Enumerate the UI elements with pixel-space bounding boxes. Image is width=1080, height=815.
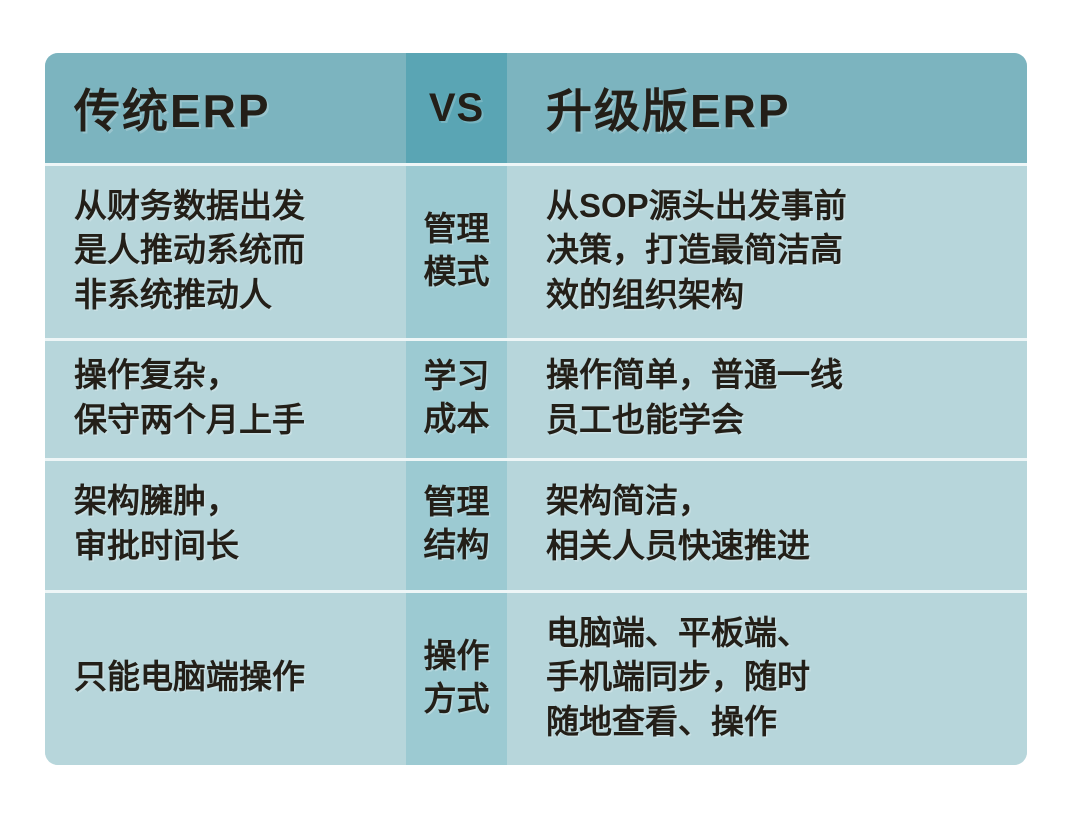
row-cell-legacy: 架构臃肿， 审批时间长 (45, 458, 406, 590)
row-text-upgraded: 操作简单，普通一线 员工也能学会 (546, 353, 843, 442)
row-text-category: 学习 成本 (424, 355, 490, 441)
row-text-legacy: 架构臃肿， 审批时间长 (74, 479, 239, 568)
table-row: 只能电脑端操作 操作 方式 电脑端、平板端、 手机端同步，随时 随地查看、操作 (45, 590, 1027, 765)
header-title-upgraded: 升级版ERP (507, 75, 791, 141)
table-row: 操作复杂， 保守两个月上手 学习 成本 操作简单，普通一线 员工也能学会 (45, 338, 1027, 458)
table-row: 架构臃肿， 审批时间长 管理 结构 架构简洁， 相关人员快速推进 (45, 458, 1027, 590)
row-text-upgraded: 从SOP源头出发事前 决策，打造最简洁高 效的组织架构 (546, 184, 847, 318)
row-cell-category: 操作 方式 (406, 590, 507, 765)
table-row: 从财务数据出发 是人推动系统而 非系统推动人 管理 模式 从SOP源头出发事前 … (45, 163, 1027, 338)
row-text-category: 管理 结构 (424, 481, 490, 567)
row-cell-category: 管理 模式 (406, 163, 507, 338)
header-vs-label: VS (429, 86, 484, 131)
row-text-category: 操作 方式 (424, 635, 490, 721)
comparison-table: 传统ERP VS 升级版ERP 从财务数据出发 是人推动系统而 非系统推动人 管… (45, 53, 1027, 765)
header-title-legacy: 传统ERP (45, 75, 271, 141)
header-cell-vs: VS (406, 53, 507, 163)
row-cell-legacy: 从财务数据出发 是人推动系统而 非系统推动人 (45, 163, 406, 338)
row-cell-legacy: 只能电脑端操作 (45, 590, 406, 765)
row-text-legacy: 只能电脑端操作 (74, 655, 305, 700)
row-text-legacy: 操作复杂， 保守两个月上手 (74, 353, 305, 442)
row-cell-upgraded: 电脑端、平板端、 手机端同步，随时 随地查看、操作 (507, 590, 1027, 765)
row-cell-category: 管理 结构 (406, 458, 507, 590)
row-cell-upgraded: 操作简单，普通一线 员工也能学会 (507, 338, 1027, 458)
row-cell-category: 学习 成本 (406, 338, 507, 458)
row-text-upgraded: 架构简洁， 相关人员快速推进 (546, 479, 810, 568)
row-text-upgraded: 电脑端、平板端、 手机端同步，随时 随地查看、操作 (546, 611, 810, 745)
row-text-category: 管理 模式 (424, 208, 490, 294)
table-header-row: 传统ERP VS 升级版ERP (45, 53, 1027, 163)
row-cell-upgraded: 从SOP源头出发事前 决策，打造最简洁高 效的组织架构 (507, 163, 1027, 338)
row-text-legacy: 从财务数据出发 是人推动系统而 非系统推动人 (74, 184, 305, 318)
row-cell-upgraded: 架构简洁， 相关人员快速推进 (507, 458, 1027, 590)
header-cell-legacy: 传统ERP (45, 53, 406, 163)
header-cell-upgraded: 升级版ERP (507, 53, 1027, 163)
row-cell-legacy: 操作复杂， 保守两个月上手 (45, 338, 406, 458)
